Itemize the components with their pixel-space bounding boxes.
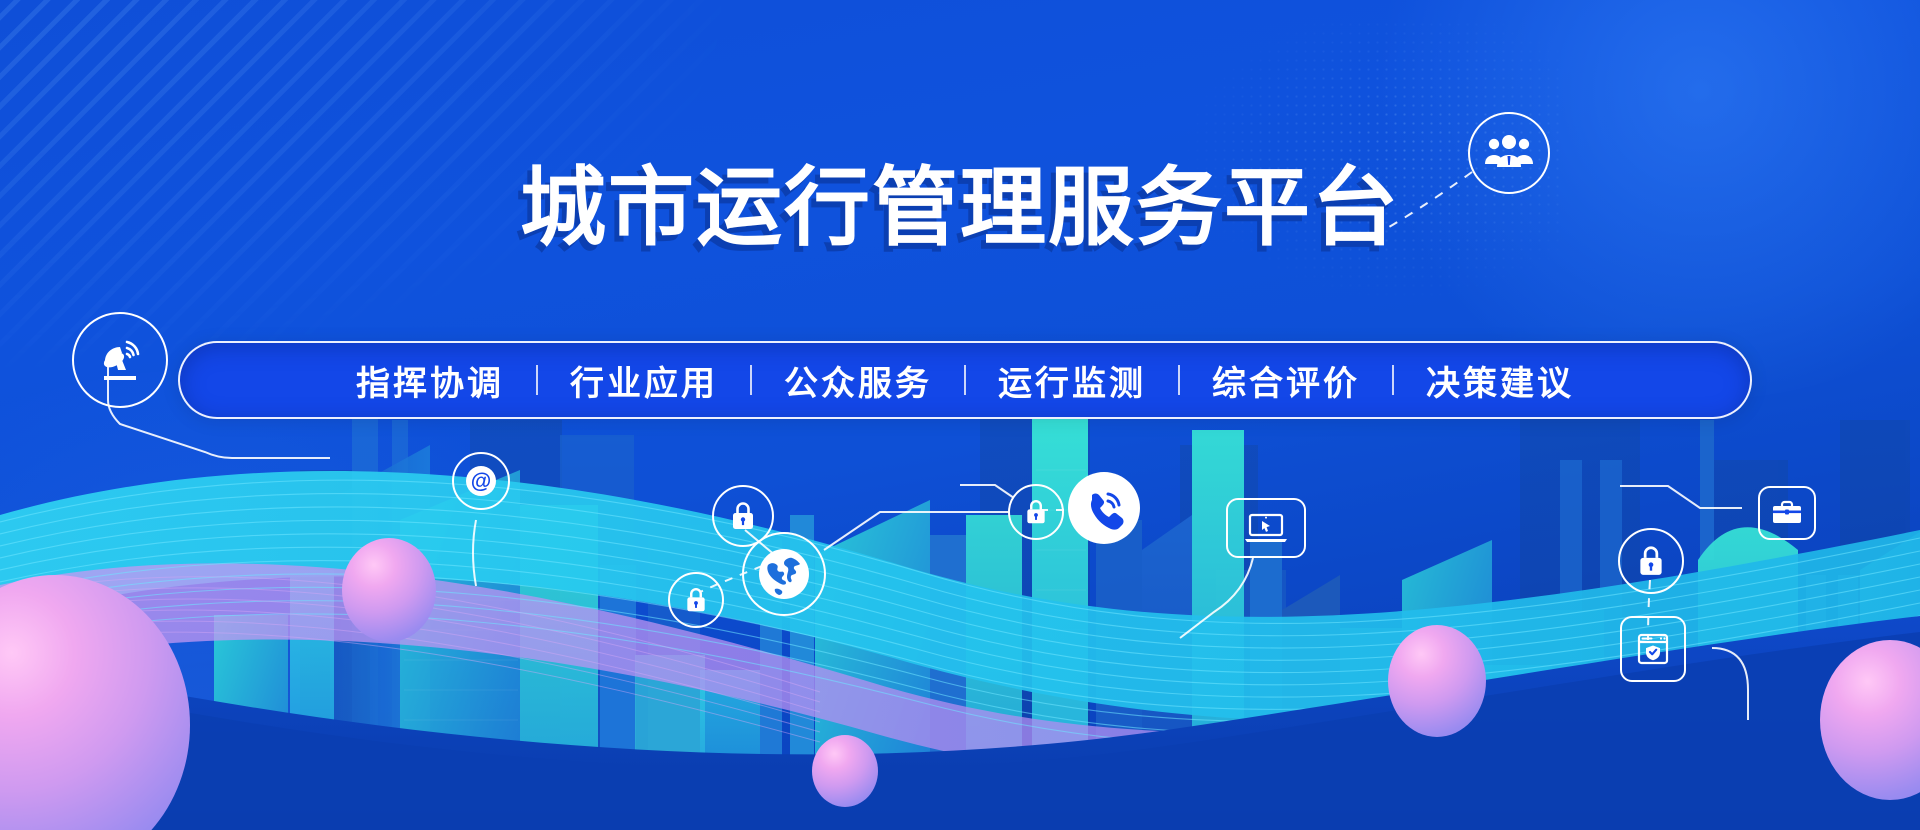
nav-item-gongzhong-fuwu[interactable]: 公众服务 bbox=[752, 356, 964, 405]
people-group-icon[interactable] bbox=[1468, 112, 1550, 194]
nav-items: 指挥协调 行业应用 公众服务 运行监测 综合评价 决策建议 bbox=[324, 356, 1606, 405]
nav-item-yunxing-jiance[interactable]: 运行监测 bbox=[966, 356, 1178, 405]
browser-shield-icon[interactable] bbox=[1620, 616, 1686, 682]
nav-item-zonghe-pingjia[interactable]: 综合评价 bbox=[1180, 356, 1392, 405]
lock-icon[interactable] bbox=[668, 572, 724, 628]
lock-icon[interactable] bbox=[1618, 528, 1684, 594]
gradient-sphere bbox=[1388, 625, 1486, 737]
nav-item-zhihui-xietiao[interactable]: 指挥协调 bbox=[324, 356, 536, 405]
briefcase-icon[interactable] bbox=[1758, 486, 1816, 540]
page-title: 城市运行管理服务平台 bbox=[520, 160, 1400, 256]
globe-icon[interactable] bbox=[742, 532, 826, 616]
gradient-sphere bbox=[342, 538, 436, 642]
lock-icon[interactable] bbox=[1008, 484, 1064, 540]
laptop-cursor-icon[interactable] bbox=[1226, 498, 1306, 558]
at-sign-icon[interactable]: @ bbox=[452, 452, 510, 510]
satellite-dish-icon[interactable] bbox=[72, 312, 168, 408]
nav-item-hangye-yingyong[interactable]: 行业应用 bbox=[538, 356, 750, 405]
nav-item-juece-jianyi[interactable]: 决策建议 bbox=[1394, 356, 1606, 405]
page-title-wrap: 城市运行管理服务平台 bbox=[0, 160, 1920, 256]
primary-nav[interactable]: 指挥协调 行业应用 公众服务 运行监测 综合评价 决策建议 bbox=[178, 341, 1752, 419]
gradient-sphere bbox=[812, 735, 878, 807]
banner-stage: 城市运行管理服务平台 指挥协调 行业应用 公众服务 运行监测 综合评价 决策建议 bbox=[0, 0, 1920, 830]
svg-text:@: @ bbox=[471, 470, 491, 493]
phone-call-icon[interactable] bbox=[1068, 472, 1140, 544]
